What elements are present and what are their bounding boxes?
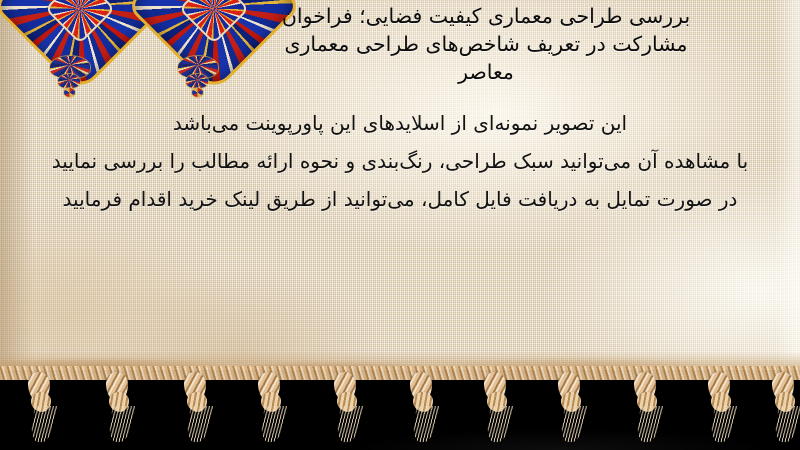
slide-canvas: بررسی طراحی معماری کیفیت فضایی؛ فراخوان … xyxy=(0,0,800,450)
text-layer: بررسی طراحی معماری کیفیت فضایی؛ فراخوان … xyxy=(0,0,800,450)
slide-title: بررسی طراحی معماری کیفیت فضایی؛ فراخوان … xyxy=(206,2,766,86)
slide-body-line-2: با مشاهده آن می‌توانید سبک طراحی، رنگ‌بن… xyxy=(0,142,800,180)
slide-title-line-3: معاصر xyxy=(206,58,766,86)
slide-title-line-2: مشارکت در تعریف شاخص‌های طراحی معماری xyxy=(206,30,766,58)
slide-title-line-1: بررسی طراحی معماری کیفیت فضایی؛ فراخوان xyxy=(206,2,766,30)
slide-body-line-3: در صورت تمایل به دریافت فایل کامل، می‌تو… xyxy=(0,180,800,218)
slide-body-line-1: این تصویر نمونه‌ای از اسلایدهای این پاور… xyxy=(0,104,800,142)
slide-body: این تصویر نمونه‌ای از اسلایدهای این پاور… xyxy=(0,104,800,218)
